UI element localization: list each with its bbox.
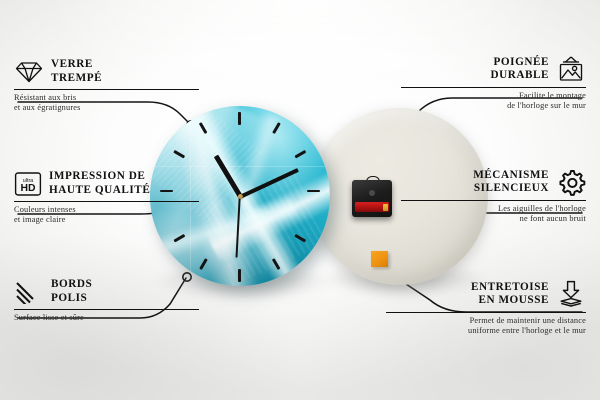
gear-icon [556, 168, 586, 196]
feature-foam-spacer: ENTRETOISE EN MOUSSE Permet de maintenir… [386, 280, 586, 337]
svg-text:HD: HD [20, 183, 36, 194]
diamond-icon [14, 60, 44, 84]
feature-durable-hanger: POIGNÉE DURABLE Facilite le montage de l… [401, 55, 586, 112]
feature-title: BORDS POLIS [51, 278, 92, 305]
movement-shaft [369, 190, 375, 196]
feature-polished-edges: BORDS POLIS Surface lisse et sûre [14, 278, 199, 323]
feature-sub-line1: Facilite le montage [401, 91, 586, 101]
feature-sub-line2: et image claire [14, 215, 199, 225]
title-underline [14, 89, 199, 90]
foam-spacer [371, 251, 388, 267]
feature-header: ENTRETOISE EN MOUSSE [386, 280, 586, 308]
hands-center-cap [238, 194, 243, 199]
feature-sub-line2: et aux égratignures [14, 103, 199, 113]
title-underline [401, 87, 586, 88]
feature-sub-line1: Permet de maintenir une distance [386, 316, 586, 326]
feature-silent-mechanism: MÉCANISME SILENCIEUX Les aiguilles de l'… [401, 168, 586, 225]
title-underline [14, 309, 199, 310]
feature-sub-line1: Surface lisse et sûre [14, 313, 199, 323]
title-underline [386, 312, 586, 313]
feature-sub-line2: ne font aucun bruit [401, 214, 586, 224]
diagonal-lines-icon [14, 280, 44, 304]
feature-title: ENTRETOISE EN MOUSSE [386, 281, 549, 308]
title-underline [401, 200, 586, 201]
feature-title: VERRE TREMPÉ [51, 58, 102, 85]
feature-title: POIGNÉE DURABLE [401, 56, 549, 83]
feature-sub-line1: Résistant aux bris [14, 93, 199, 103]
feature-sub-line1: Couleurs intenses [14, 205, 199, 215]
battery [355, 202, 389, 212]
feature-header: VERRE TREMPÉ [14, 58, 199, 85]
infographic-canvas: VERRE TREMPÉ Résistant aux bris et aux é… [0, 0, 600, 400]
feature-sub-line1: Les aiguilles de l'horloge [401, 204, 586, 214]
hanging-picture-frame-icon [556, 55, 586, 83]
feature-tempered-glass: VERRE TREMPÉ Résistant aux bris et aux é… [14, 58, 199, 114]
feature-header: MÉCANISME SILENCIEUX [401, 168, 586, 196]
feature-title: IMPRESSION DE HAUTE QUALITÉ [49, 170, 150, 197]
feature-sub-line2: de l'horloge sur le mur [401, 101, 586, 111]
feature-title: MÉCANISME SILENCIEUX [401, 169, 549, 196]
feature-high-quality-print: ultra HD IMPRESSION DE HAUTE QUALITÉ Cou… [14, 170, 199, 226]
feature-header: BORDS POLIS [14, 278, 199, 305]
feature-header: POIGNÉE DURABLE [401, 55, 586, 83]
arrow-down-onto-layers-icon [556, 280, 586, 308]
title-underline [14, 201, 199, 202]
feature-sub-line2: uniforme entre l'horloge et le mur [386, 326, 586, 336]
feature-header: ultra HD IMPRESSION DE HAUTE QUALITÉ [14, 170, 199, 197]
quartz-movement [352, 176, 392, 217]
ultra-hd-icon: ultra HD [14, 171, 42, 197]
